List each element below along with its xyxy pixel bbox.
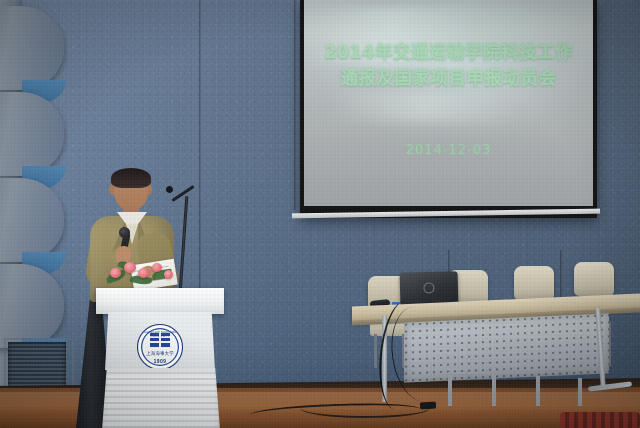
chair-backrest bbox=[574, 262, 614, 296]
emblem-founding-year: 1909 bbox=[138, 359, 182, 365]
emblem-chinese-name: 上海海事大学 bbox=[138, 351, 182, 357]
slide-date: 2014-12-03 bbox=[304, 143, 593, 158]
panel-blade bbox=[0, 178, 64, 262]
cable-connector bbox=[420, 401, 436, 409]
table-support-tube bbox=[578, 378, 582, 406]
microphone-head-icon bbox=[119, 227, 130, 238]
podium: SHANGHAI MARITIME UNIVERSITY 上海海事大学 1909 bbox=[96, 288, 224, 428]
chair bbox=[574, 262, 614, 296]
table-foot bbox=[588, 381, 632, 391]
pink-rose-bouquet bbox=[100, 254, 186, 292]
university-emblem: SHANGHAI MARITIME UNIVERSITY 上海海事大学 1909 bbox=[137, 324, 183, 370]
podium-base-slats bbox=[102, 368, 220, 428]
rose-bloom bbox=[124, 262, 136, 273]
projection-screen: 2014年交通运输学院科技工作 通报及国家项目申报动员会 2014-12-03 bbox=[300, 0, 597, 218]
projection-screen-surface: 2014年交通运输学院科技工作 通报及国家项目申报动员会 2014-12-03 bbox=[304, 0, 593, 206]
table-support-tube bbox=[536, 376, 540, 406]
microphone-capsule-icon bbox=[166, 186, 173, 193]
chair-backrest bbox=[514, 266, 554, 300]
slide-title: 2014年交通运输学院科技工作 通报及国家项目申报动员会 bbox=[304, 40, 593, 92]
laptop-logo-icon bbox=[423, 282, 434, 293]
panel-blade bbox=[0, 264, 64, 348]
table-support-tube bbox=[448, 372, 452, 406]
slide-title-line-2: 通报及国家项目申报动员会 bbox=[304, 66, 593, 92]
podium-top-surface bbox=[96, 288, 224, 314]
emblem-device bbox=[150, 333, 170, 347]
chair-leg bbox=[374, 334, 377, 368]
chair bbox=[514, 266, 554, 300]
panel-blade bbox=[0, 6, 64, 90]
wall-seam bbox=[294, 0, 296, 210]
floor-decor bbox=[560, 412, 640, 428]
podium-front-face: SHANGHAI MARITIME UNIVERSITY 上海海事大学 1909 bbox=[105, 312, 215, 370]
table-support-tube bbox=[492, 374, 496, 406]
screen-glare bbox=[324, 92, 524, 122]
rose-bloom bbox=[164, 270, 173, 279]
floor-power-cables bbox=[300, 398, 430, 418]
slide-title-line-1: 2014年交通运输学院科技工作 bbox=[304, 40, 593, 66]
panel-blade bbox=[0, 92, 64, 176]
rose-bloom bbox=[152, 263, 162, 272]
eyeglasses-icon bbox=[115, 184, 147, 193]
conference-room-photo: 2014年交通运输学院科技工作 通报及国家项目申报动员会 2014-12-03 bbox=[0, 0, 640, 428]
rose-bloom bbox=[110, 268, 121, 278]
rose-bloom bbox=[138, 268, 149, 278]
